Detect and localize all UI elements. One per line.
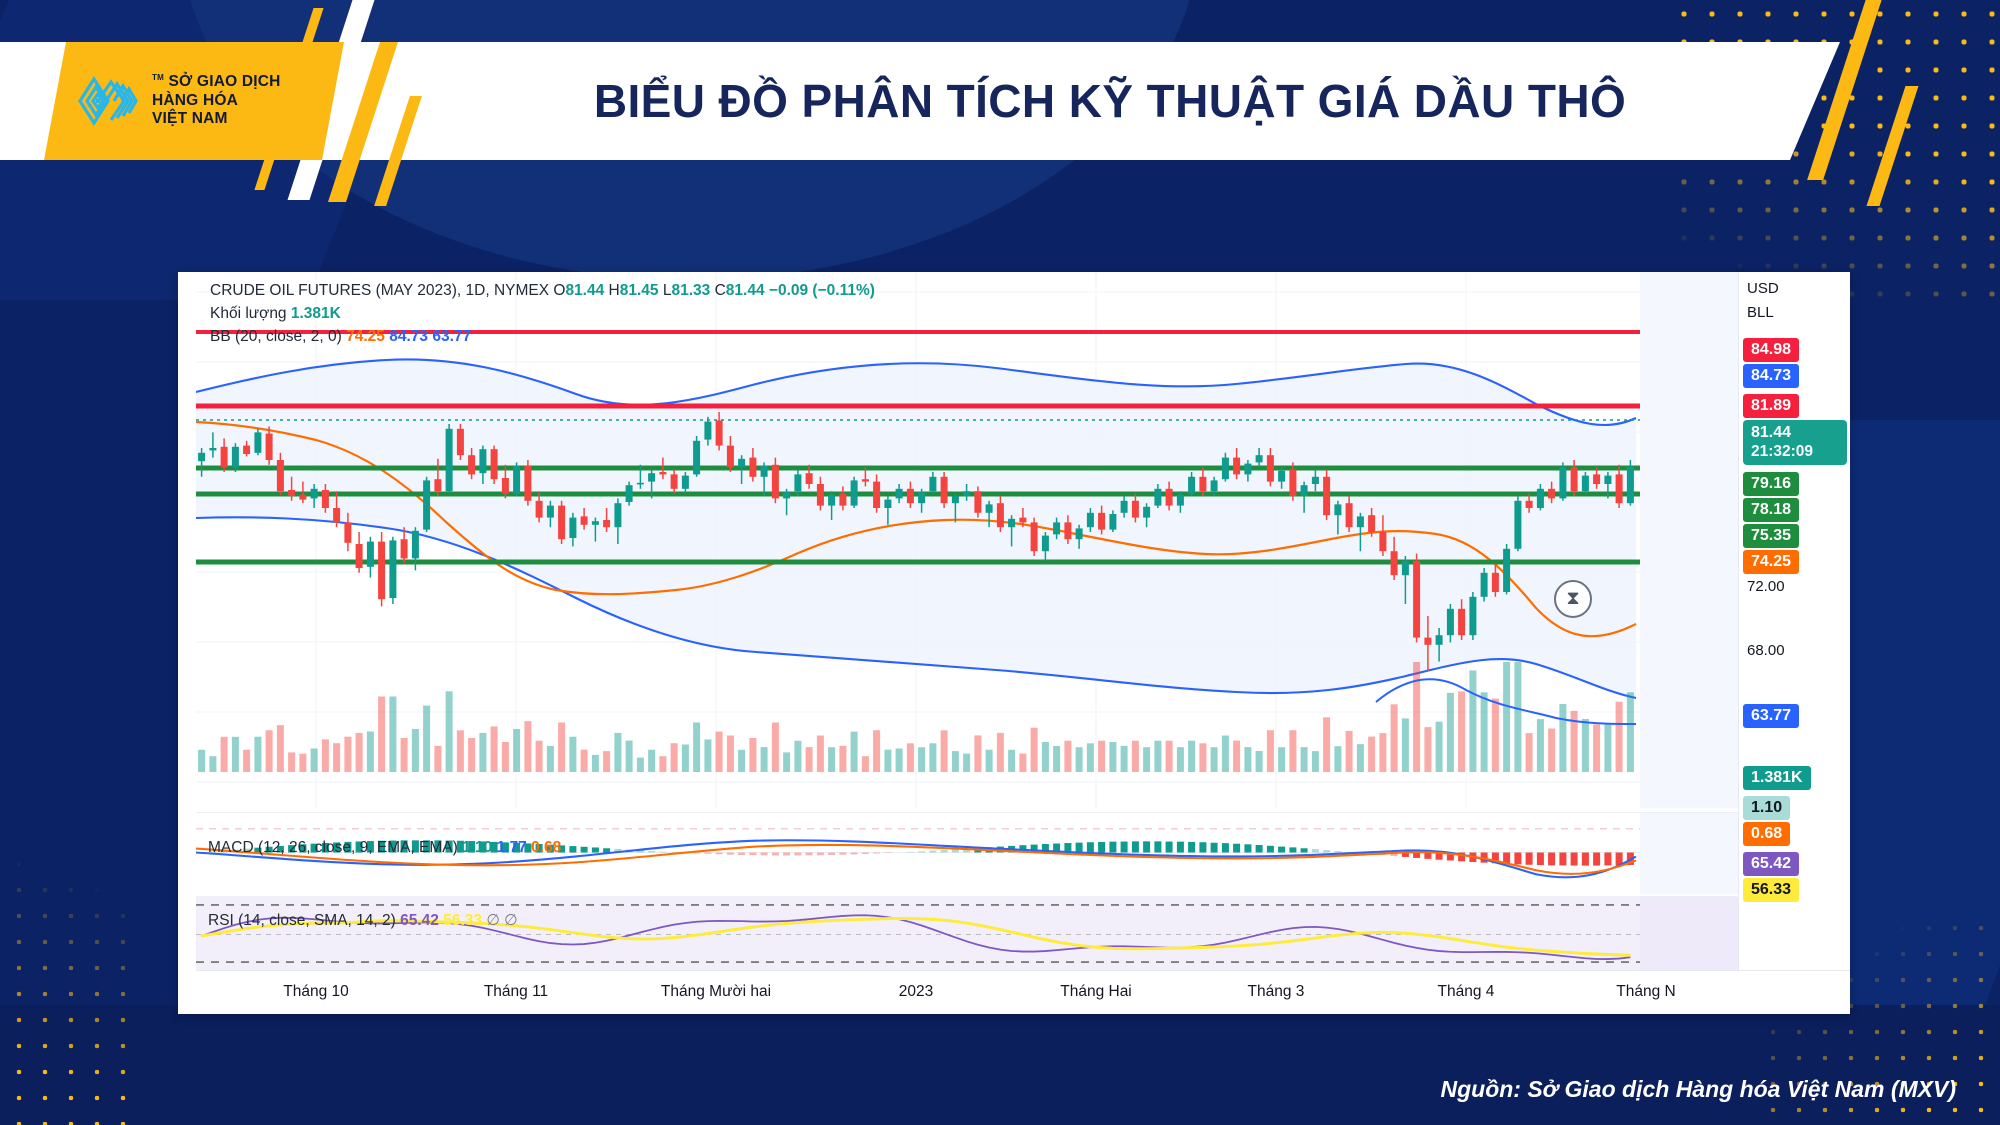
price-tag-84-98[interactable]: 84.98 — [1743, 338, 1799, 362]
x-label-4: Tháng Hai — [1060, 983, 1132, 1001]
decor-slash-yellow-3 — [374, 96, 422, 206]
tradingview-chart[interactable]: CRUDE OIL FUTURES (MAY 2023), 1D, NYMEX … — [178, 272, 1850, 1014]
trademark-mark: TM — [152, 73, 164, 82]
macd-signal-tag[interactable]: 1.10 — [1743, 796, 1790, 820]
macd-chart-svg — [196, 813, 1738, 894]
x-label-7: Tháng N — [1616, 983, 1675, 1001]
current-price-value: 81.44 — [1751, 424, 1791, 441]
brand-line-2: HÀNG HÓA — [152, 92, 238, 109]
current-price-tag[interactable]: 81.44 21:32:09 — [1743, 420, 1847, 465]
price-tag-63-77[interactable]: 63.77 — [1743, 704, 1799, 728]
price-tag-75-35[interactable]: 75.35 — [1743, 524, 1799, 548]
x-label-0: Tháng 10 — [283, 983, 349, 1001]
price-chart-svg — [196, 272, 1738, 808]
brand-line-1: SỞ GIAO DỊCH — [168, 73, 280, 90]
volume-tag[interactable]: 1.381K — [1743, 766, 1811, 790]
rsi-sma-tag[interactable]: 56.33 — [1743, 878, 1799, 902]
mxv-maze-logo-icon — [78, 73, 142, 129]
rsi-value-tag[interactable]: 65.42 — [1743, 852, 1799, 876]
brand-line-3: VIỆT NAM — [152, 110, 228, 127]
price-axis[interactable]: USD BLL 84.98 84.73 81.89 81.44 21:32:09… — [1738, 272, 1850, 970]
loading-hourglass-icon[interactable]: ⧗ — [1554, 580, 1592, 618]
x-label-5: Tháng 3 — [1248, 983, 1305, 1001]
macd-hist-tag[interactable]: 0.68 — [1743, 822, 1790, 846]
bar-countdown: 21:32:09 — [1751, 442, 1839, 461]
source-caption: Nguồn: Sở Giao dịch Hàng hóa Việt Nam (M… — [1440, 1076, 1956, 1103]
axis-unit: BLL — [1747, 304, 1774, 321]
macd-pane[interactable]: MACD (12, 26, close, 9, EMA, EMA) 1.10 1… — [196, 812, 1738, 894]
brand-logo-text: TM SỞ GIAO DỊCH HÀNG HÓA VIỆT NAM — [152, 73, 281, 129]
page-title: BIỂU ĐỒ PHÂN TÍCH KỸ THUẬT GIÁ DẦU THÔ — [520, 42, 1700, 160]
x-label-2: Tháng Mười hai — [661, 983, 771, 1001]
brand-logo: TM SỞ GIAO DỊCH HÀNG HÓA VIỆT NAM — [44, 42, 344, 160]
bg-band-bottom — [0, 1005, 2000, 1125]
x-label-1: Tháng 11 — [484, 983, 548, 1001]
time-axis[interactable]: Tháng 10 Tháng 11 Tháng Mười hai 2023 Th… — [196, 970, 1850, 1014]
price-tag-74-25[interactable]: 74.25 — [1743, 550, 1799, 574]
x-label-3: 2023 — [899, 983, 933, 1001]
price-tag-81-89[interactable]: 81.89 — [1743, 394, 1799, 418]
axis-tick-72: 72.00 — [1747, 578, 1785, 595]
plot-area[interactable]: CRUDE OIL FUTURES (MAY 2023), 1D, NYMEX … — [196, 272, 1738, 970]
price-tag-79-16[interactable]: 79.16 — [1743, 472, 1799, 496]
price-pane[interactable]: CRUDE OIL FUTURES (MAY 2023), 1D, NYMEX … — [196, 272, 1738, 808]
halftone-dots-bottom-left — [6, 825, 126, 1125]
price-tag-84-73[interactable]: 84.73 — [1743, 364, 1799, 388]
rsi-pane[interactable]: RSI (14, close, SMA, 14, 2) 65.42 56.33 … — [196, 896, 1738, 970]
x-label-6: Tháng 4 — [1438, 983, 1495, 1001]
price-tag-78-18[interactable]: 78.18 — [1743, 498, 1799, 522]
axis-currency: USD — [1747, 280, 1779, 297]
rsi-chart-svg — [196, 897, 1738, 970]
axis-tick-68: 68.00 — [1747, 642, 1785, 659]
